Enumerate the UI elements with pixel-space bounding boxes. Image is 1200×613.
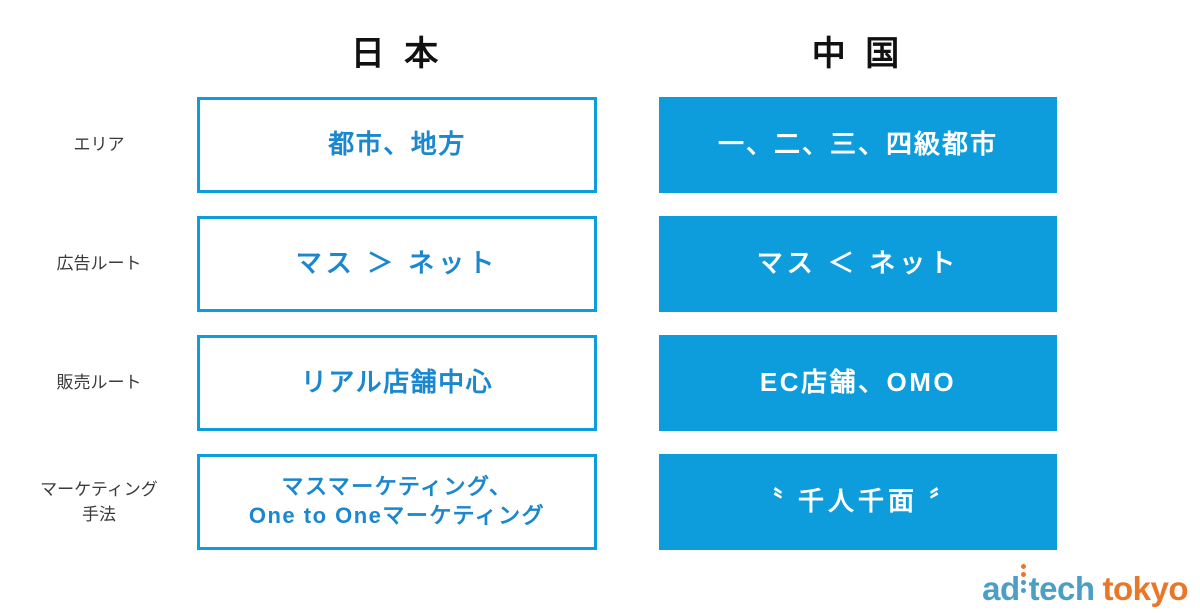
adtech-tokyo-logo: ad tech tokyo [982, 565, 1188, 605]
cell-china-marketing-method: 〝 千人千面 〞 [659, 454, 1057, 550]
colon-dots-icon [1020, 572, 1029, 605]
cell-text: マス ＜ ネット [757, 248, 959, 280]
row-label-area: エリア [10, 97, 188, 193]
column-header-japan: 日 本 [197, 28, 597, 80]
cell-china-ad-route: マス ＜ ネット [659, 216, 1057, 312]
comparison-slide: 日 本 中 国 エリア 都市、地方 一、二、三、四級都市 広告ルート マス ＞ … [0, 0, 1200, 613]
cell-japan-marketing-method: マスマーケティング、 One to Oneマーケティング [197, 454, 597, 550]
logo-text-tech: tech [1029, 572, 1095, 605]
cell-text: 一、二、三、四級都市 [718, 129, 998, 161]
row-label-ad-route: 広告ルート [10, 216, 188, 312]
comparison-row: 販売ルート リアル店舗中心 EC店舗、OMO [0, 335, 1200, 431]
column-headers: 日 本 中 国 [0, 28, 1200, 80]
logo-text-ad: ad [982, 572, 1020, 605]
comparison-row: マーケティング 手法 マスマーケティング、 One to Oneマーケティング … [0, 454, 1200, 550]
cell-text: EC店舗、OMO [760, 367, 956, 399]
row-label-sales-route: 販売ルート [10, 335, 188, 431]
cell-text: リアル店舗中心 [301, 367, 493, 399]
cell-japan-area: 都市、地方 [197, 97, 597, 193]
row-label-marketing-method: マーケティング 手法 [10, 454, 188, 550]
cell-text: 〝 千人千面 〞 [757, 486, 959, 518]
cell-china-sales-route: EC店舗、OMO [659, 335, 1057, 431]
comparison-row: エリア 都市、地方 一、二、三、四級都市 [0, 97, 1200, 193]
cell-china-area: 一、二、三、四級都市 [659, 97, 1057, 193]
cell-text: マス ＞ ネット [296, 248, 498, 280]
logo-text-tokyo: tokyo [1102, 572, 1188, 605]
column-header-china: 中 国 [659, 28, 1057, 80]
cell-japan-ad-route: マス ＞ ネット [197, 216, 597, 312]
cell-text: 都市、地方 [328, 129, 466, 161]
comparison-row: 広告ルート マス ＞ ネット マス ＜ ネット [0, 216, 1200, 312]
cell-text: マスマーケティング、 One to Oneマーケティング [249, 473, 545, 530]
cell-japan-sales-route: リアル店舗中心 [197, 335, 597, 431]
